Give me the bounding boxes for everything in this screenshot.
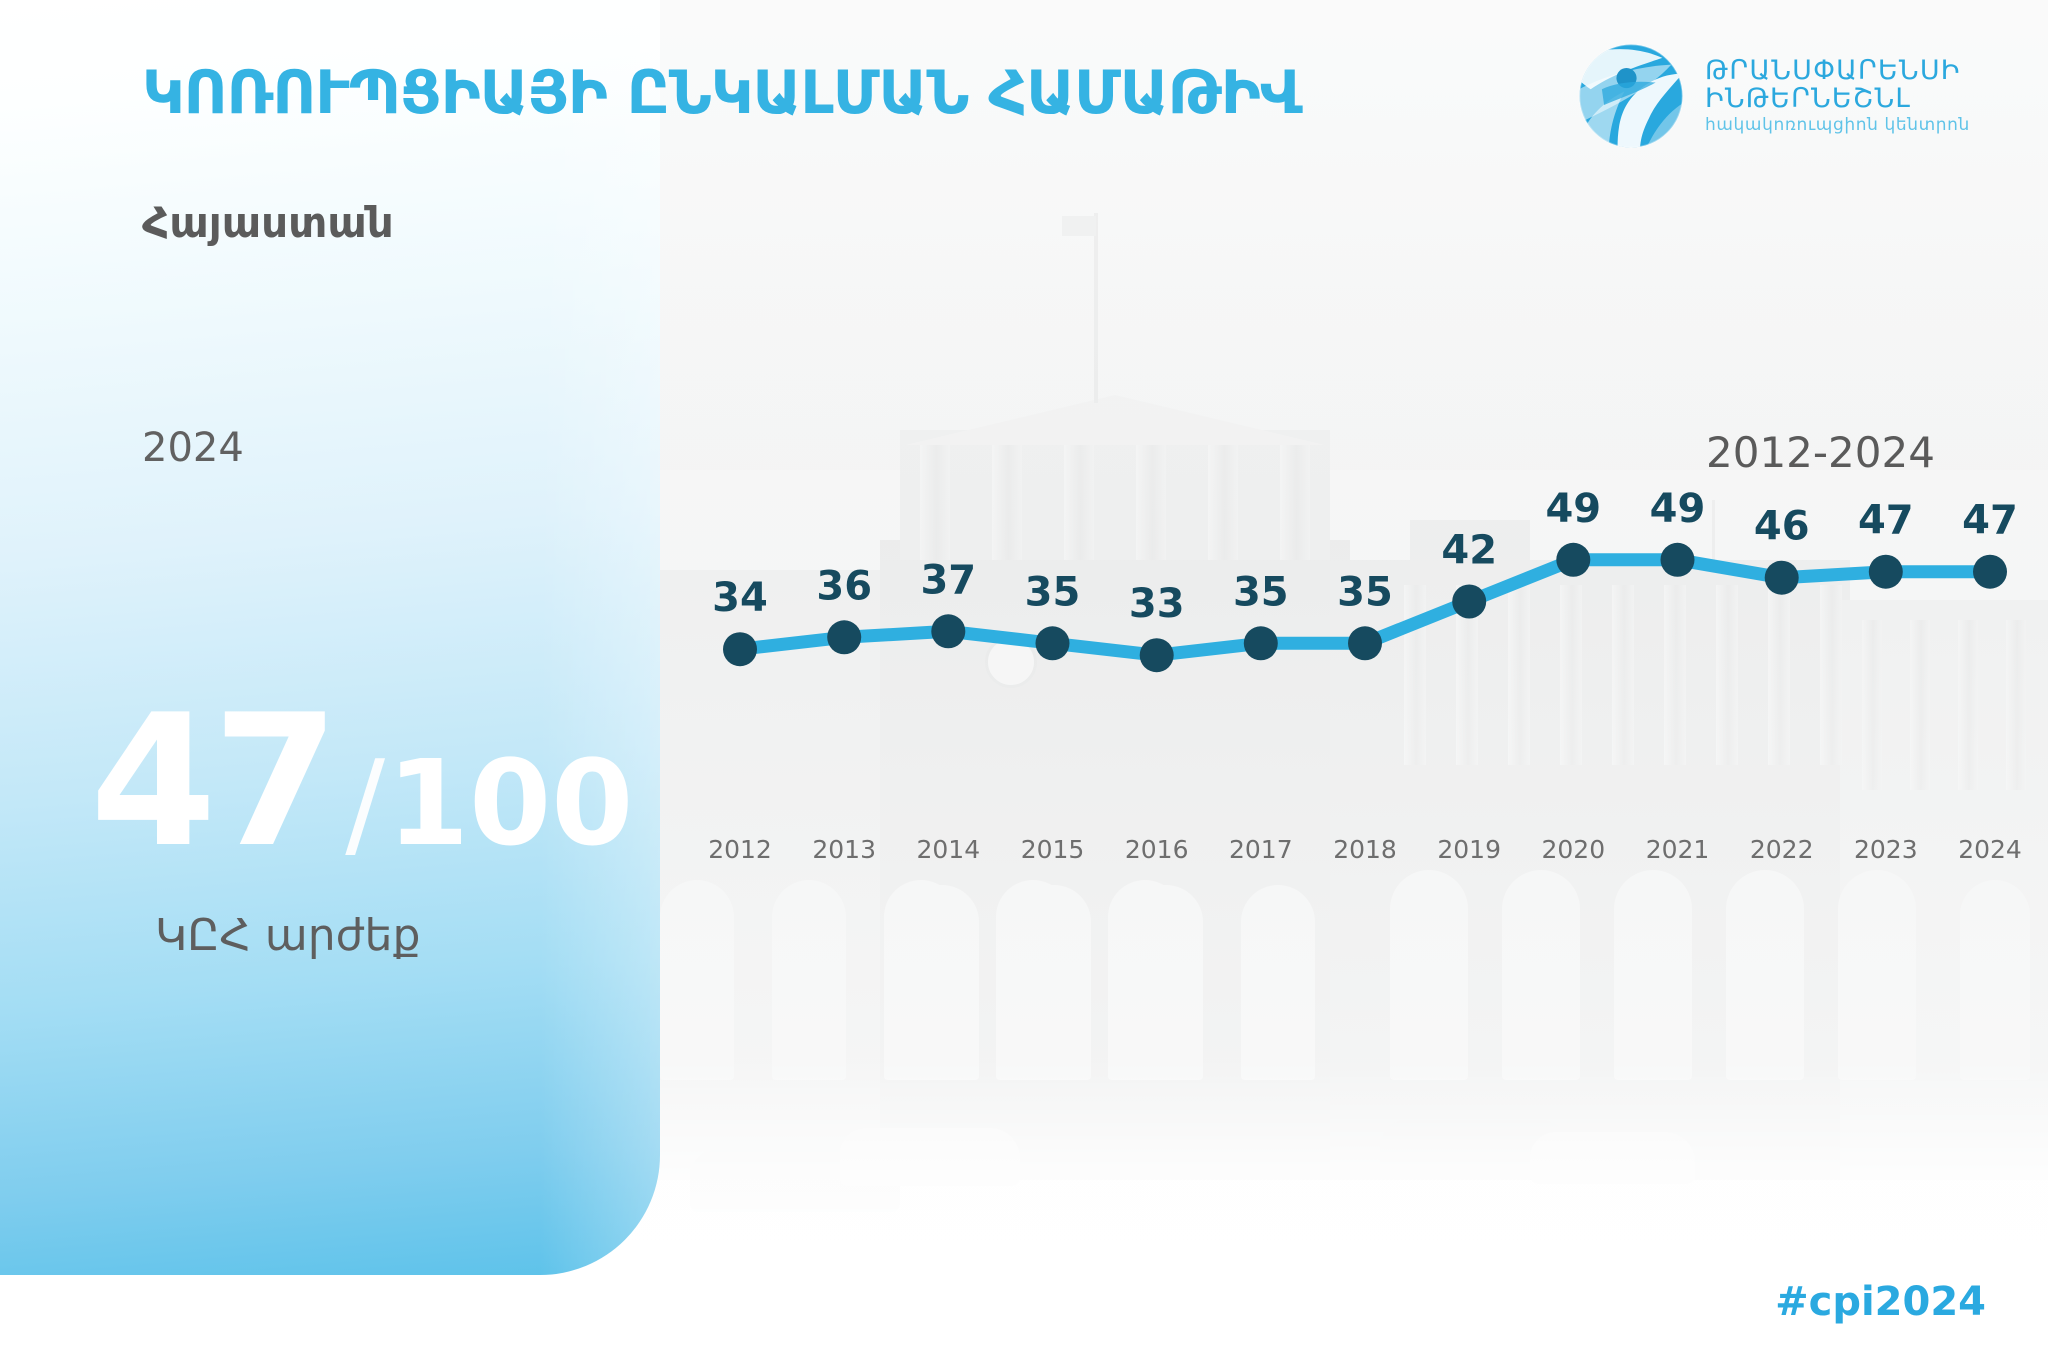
- chart-point: [827, 620, 861, 654]
- chart-point-label: 37: [920, 557, 976, 603]
- chart-point: [1869, 555, 1903, 589]
- chart-x-tick: 2024: [1958, 835, 2022, 864]
- chart-point-label: 36: [816, 563, 872, 609]
- chart-point-label: 49: [1650, 486, 1706, 532]
- chart-point-label: 42: [1441, 528, 1497, 574]
- left-info-panel: [0, 0, 660, 1275]
- chart-x-tick: 2022: [1750, 835, 1814, 864]
- chart-point-label: 47: [1962, 498, 2018, 544]
- page-title: ԿՈՌՈՒՊՑԻԱՅԻ ԸՆԿԱԼՄԱՆ ՀԱՄԱԹԻՎ: [142, 58, 1302, 128]
- chart-x-tick: 2013: [812, 835, 876, 864]
- chart-data-labels: 34363735333535424949464747: [712, 486, 2018, 627]
- chart-x-tick: 2015: [1021, 835, 1085, 864]
- chart-point: [1661, 543, 1695, 577]
- globe-person-icon: [1575, 40, 1687, 152]
- score-block: 47 / 100: [90, 690, 633, 872]
- chart-point-label: 35: [1233, 569, 1289, 615]
- logo-text-block: ԹՐԱՆՍՓԱՐԵՆՍԻ ԻՆԹԵՐՆԵՇՆԼ հակակոռուպցիոն կ…: [1705, 57, 1970, 134]
- infographic-canvas: ԿՈՌՈՒՊՑԻԱՅԻ ԸՆԿԱԼՄԱՆ ՀԱՄԱԹԻՎ Հայաստան 20…: [0, 0, 2048, 1363]
- chart-x-tick: 2012: [708, 835, 772, 864]
- logo-line-1: ԹՐԱՆՍՓԱՐԵՆՍԻ: [1705, 57, 1970, 85]
- chart-x-tick: 2016: [1125, 835, 1189, 864]
- chart-point: [1765, 561, 1799, 595]
- chart-point: [1348, 626, 1382, 660]
- chart-point: [1556, 543, 1590, 577]
- chart-point: [723, 632, 757, 666]
- organization-logo[interactable]: ԹՐԱՆՍՓԱՐԵՆՍԻ ԻՆԹԵՐՆԵՇՆԼ հակակոռուպցիոն կ…: [1575, 40, 1970, 152]
- cpi-line-chart: 34363735333535424949464747 2012201320142…: [700, 470, 2030, 1170]
- score-separator: /: [345, 744, 385, 862]
- chart-point-label: 49: [1545, 486, 1601, 532]
- panel-edge-fade: [540, 0, 660, 1275]
- chart-point: [931, 614, 965, 648]
- logo-line-3: հակակոռուպցիոն կենտրոն: [1705, 117, 1970, 134]
- chart-x-tick: 2023: [1854, 835, 1918, 864]
- chart-x-tick: 2014: [916, 835, 980, 864]
- country-name: Հայաստան: [142, 198, 394, 247]
- chart-point: [1140, 638, 1174, 672]
- chart-svg: 34363735333535424949464747 2012201320142…: [700, 470, 2030, 1170]
- chart-point-label: 47: [1858, 498, 1914, 544]
- logo-line-2: ԻՆԹԵՐՆԵՇՆԼ: [1705, 85, 1970, 113]
- score-caption: ԿԸՀ արժեք: [155, 910, 420, 961]
- hashtag-label: #cpi2024: [1775, 1279, 1986, 1325]
- chart-x-tick: 2017: [1229, 835, 1293, 864]
- year-label: 2024: [142, 425, 244, 471]
- chart-x-tick: 2018: [1333, 835, 1397, 864]
- chart-x-tick: 2020: [1541, 835, 1605, 864]
- chart-point: [1036, 626, 1070, 660]
- chart-point-label: 35: [1025, 569, 1081, 615]
- chart-point: [1973, 555, 2007, 589]
- chart-point-label: 33: [1129, 581, 1185, 627]
- chart-x-tick: 2021: [1646, 835, 1710, 864]
- chart-x-tick: 2019: [1437, 835, 1501, 864]
- score-value: 47: [90, 690, 335, 872]
- score-denominator: 100: [387, 744, 633, 862]
- chart-x-axis-ticks: 2012201320142015201620172018201920202021…: [708, 835, 2022, 864]
- chart-point: [1452, 585, 1486, 619]
- chart-point: [1244, 626, 1278, 660]
- chart-point-label: 34: [712, 575, 768, 621]
- chart-point-label: 46: [1754, 504, 1810, 550]
- chart-point-label: 35: [1337, 569, 1393, 615]
